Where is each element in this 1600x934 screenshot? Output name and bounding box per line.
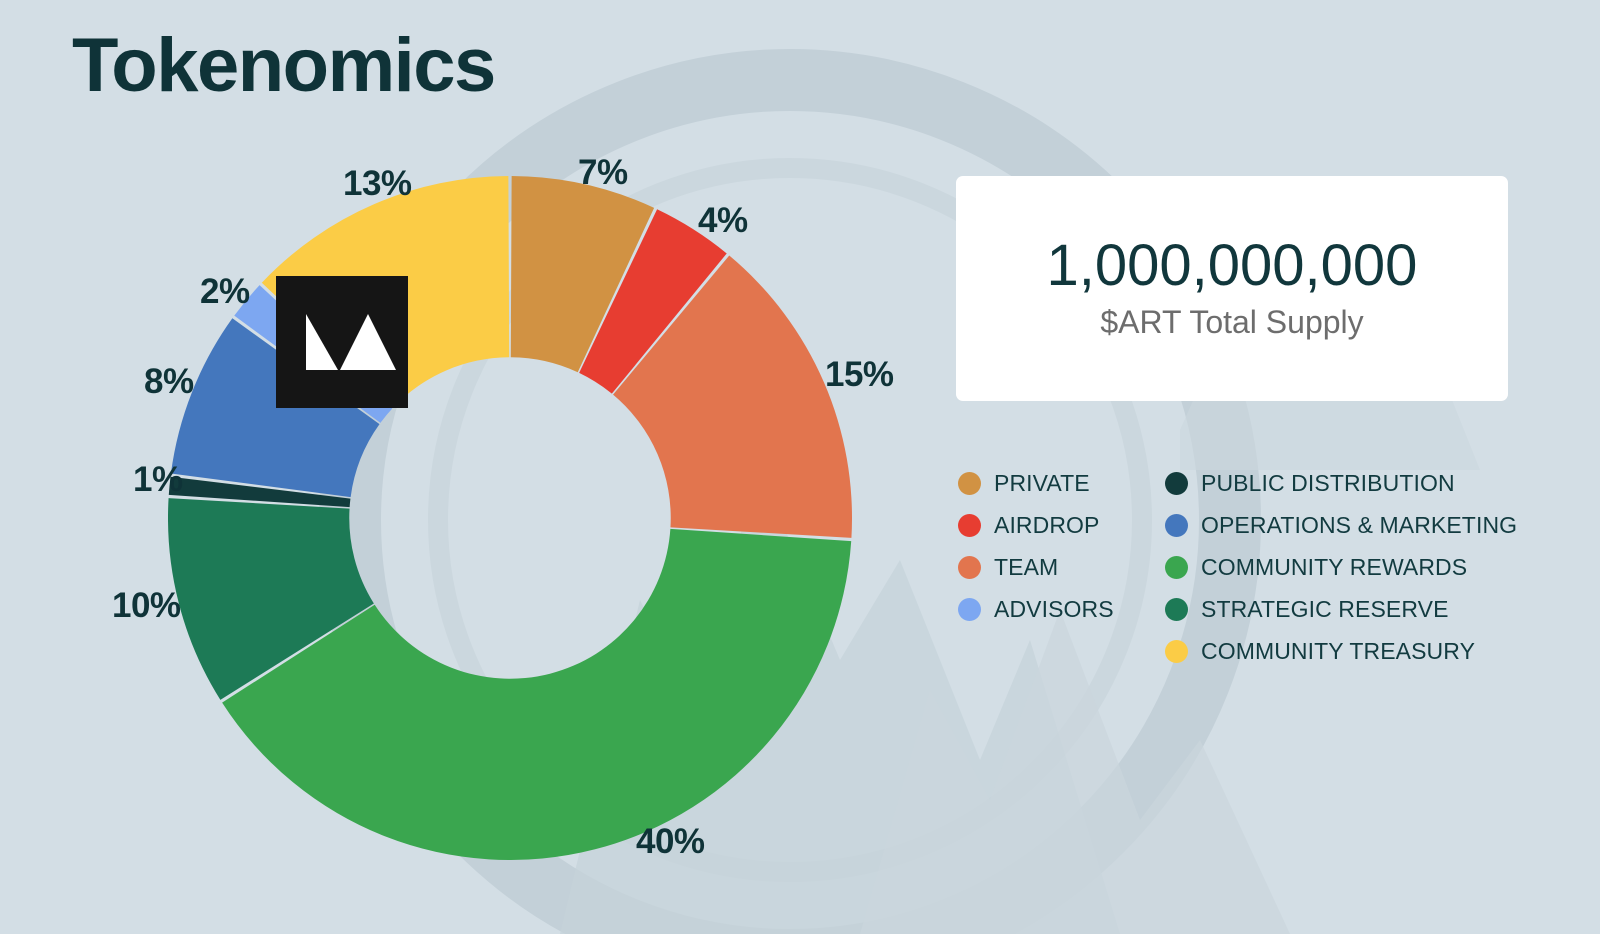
slice-percent-label: 40%	[636, 824, 705, 859]
donut-chart-svg	[168, 176, 852, 860]
legend-item-team[interactable]: TEAM	[958, 546, 1165, 588]
legend-swatch-icon	[1165, 472, 1188, 495]
slice-percent-label: 1%	[133, 462, 183, 497]
legend-swatch-icon	[958, 598, 981, 621]
legend-swatch-icon	[1165, 640, 1188, 663]
slice-percent-label: 8%	[144, 364, 194, 399]
legend-item-label: TEAM	[994, 556, 1058, 579]
total-supply-value: 1,000,000,000	[1047, 236, 1418, 297]
legend-column-right: PUBLIC DISTRIBUTIONOPERATIONS & MARKETIN…	[1165, 462, 1515, 672]
legend-swatch-icon	[1165, 514, 1188, 537]
donut-slices[interactable]	[168, 176, 852, 860]
logo-right-peak	[340, 314, 396, 370]
legend-item-strategic-reserve[interactable]: STRATEGIC RESERVE	[1165, 588, 1515, 630]
legend-item-public-distribution[interactable]: PUBLIC DISTRIBUTION	[1165, 462, 1515, 504]
slice-percent-label: 2%	[200, 274, 250, 309]
legend-item-community-treasury[interactable]: COMMUNITY TREASURY	[1165, 630, 1515, 672]
legend-item-label: COMMUNITY REWARDS	[1201, 556, 1467, 579]
legend-item-airdrop[interactable]: AIRDROP	[958, 504, 1165, 546]
logo-left-peak	[306, 314, 338, 370]
legend-item-label: COMMUNITY TREASURY	[1201, 640, 1475, 663]
total-supply-card: 1,000,000,000 $ART Total Supply	[956, 176, 1508, 401]
legend-item-label: OPERATIONS & MARKETING	[1201, 514, 1517, 537]
chart-legend: PRIVATEAIRDROPTEAMADVISORS PUBLIC DISTRI…	[958, 462, 1518, 672]
legend-item-label: PRIVATE	[994, 472, 1090, 495]
tokenomics-infographic: Tokenomics 7%4%15%40%10%1%8%2%13% 1,000,…	[0, 0, 1600, 934]
legend-swatch-icon	[958, 472, 981, 495]
slice-percent-label: 4%	[698, 203, 748, 238]
legend-column-left: PRIVATEAIRDROPTEAMADVISORS	[958, 462, 1165, 672]
slice-percent-label: 10%	[112, 588, 181, 623]
legend-item-community-rewards[interactable]: COMMUNITY REWARDS	[1165, 546, 1515, 588]
legend-swatch-icon	[1165, 598, 1188, 621]
slice-percent-label: 15%	[825, 357, 894, 392]
legend-item-label: AIRDROP	[994, 514, 1100, 537]
page-title: Tokenomics	[72, 28, 495, 104]
legend-item-label: PUBLIC DISTRIBUTION	[1201, 472, 1455, 495]
legend-swatch-icon	[1165, 556, 1188, 579]
legend-item-advisors[interactable]: ADVISORS	[958, 588, 1165, 630]
donut-chart	[168, 176, 852, 860]
slice-percent-label: 7%	[578, 155, 628, 190]
total-supply-label: $ART Total Supply	[1100, 305, 1363, 340]
legend-item-label: STRATEGIC RESERVE	[1201, 598, 1449, 621]
legend-swatch-icon	[958, 556, 981, 579]
brand-mountain-logo	[276, 276, 408, 408]
slice-percent-label: 13%	[343, 166, 412, 201]
legend-item-private[interactable]: PRIVATE	[958, 462, 1165, 504]
legend-swatch-icon	[958, 514, 981, 537]
legend-item-operations-marketing[interactable]: OPERATIONS & MARKETING	[1165, 504, 1515, 546]
legend-item-label: ADVISORS	[994, 598, 1114, 621]
